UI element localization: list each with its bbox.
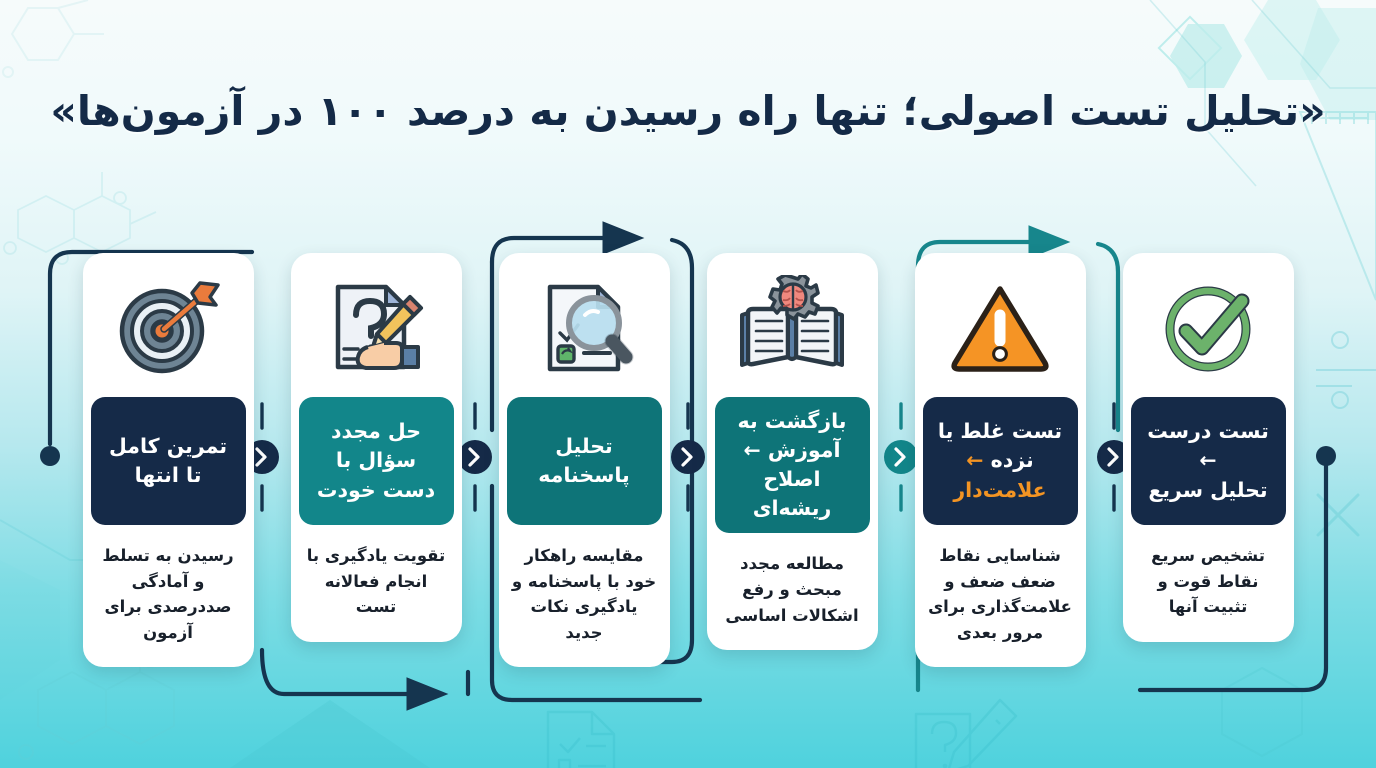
green-check-circle-icon <box>1123 253 1294 397</box>
step-band-line1: تست غلط یا <box>938 419 1062 443</box>
step-description-6: رسیدن به تسلط و آمادگی صددرصدی برای آزمو… <box>83 525 254 667</box>
step-band-line2: آموزش <box>768 438 841 462</box>
step-description-5: تقویت یادگیری با انجام فعالانه تست <box>291 525 462 642</box>
step-band-arrow: ← <box>1199 446 1216 475</box>
step-band-2: تست غلط یا نزده ← علامت‌دار <box>923 397 1078 525</box>
step-card-1[interactable]: تست درست ← تحلیل سریع تشخیص سریع نقاط قو… <box>1123 253 1294 642</box>
step-description-2: شناسایی نقاط ضعف ضعف و علامت‌گذاری برای … <box>915 525 1086 667</box>
step-description-4: مقایسه راهکار خود با پاسخنامه و یادگیری … <box>499 525 670 667</box>
step-description-3: مطالعه مجدد مبحث و رفع اشکالات اساسی <box>707 533 878 650</box>
step-card-5[interactable]: حل مجدد سؤال با دست خودت تقویت یادگیری ب… <box>291 253 462 642</box>
step-card-2[interactable]: تست غلط یا نزده ← علامت‌دار شناسایی نقاط… <box>915 253 1086 667</box>
book-brain-gear-icon <box>707 253 878 397</box>
step-card-6[interactable]: تمرین کامل تا انتها رسیدن به تسلط و آماد… <box>83 253 254 667</box>
step-band-4: تحلیل پاسخنامه <box>507 397 662 525</box>
page-title: «تحلیل تست اصولی؛ تنها راه رسیدن به درصد… <box>50 86 1325 137</box>
step-band-arrow: ← <box>744 436 761 465</box>
step-band-6: تمرین کامل تا انتها <box>91 397 246 525</box>
steps-row: تست درست ← تحلیل سریع تشخیص سریع نقاط قو… <box>0 253 1376 673</box>
step-band-arrow: ← <box>966 446 983 475</box>
step-band-1: تست درست ← تحلیل سریع <box>1131 397 1286 525</box>
step-band-3: بازگشت به آموزش ← اصلاح ریشه‌ای <box>715 397 870 533</box>
step-card-4[interactable]: تحلیل پاسخنامه مقایسه راهکار خود با پاسخ… <box>499 253 670 667</box>
step-band-line2: تحلیل سریع <box>1148 478 1267 502</box>
step-band-line2: نزده <box>991 448 1034 472</box>
step-band-accent: اصلاح ریشه‌ای <box>753 467 832 520</box>
step-band-line2: سؤال با دست خودت <box>317 448 435 501</box>
target-arrow-icon <box>83 253 254 397</box>
infographic-canvas: «تحلیل تست اصولی؛ تنها راه رسیدن به درصد… <box>0 0 1376 768</box>
step-card-3[interactable]: بازگشت به آموزش ← اصلاح ریشه‌ای مطالعه م… <box>707 253 878 650</box>
step-band-line1: تحلیل <box>555 434 613 458</box>
hand-pencil-question-icon <box>291 253 462 397</box>
step-band-line2: تا انتها <box>135 463 202 487</box>
orange-warning-triangle-icon <box>915 253 1086 397</box>
step-band-line1: تست درست <box>1147 419 1269 443</box>
step-band-line1: بازگشت به <box>738 409 847 433</box>
step-band-line1: تمرین کامل <box>109 434 227 458</box>
document-magnifier-icon <box>499 253 670 397</box>
step-band-5: حل مجدد سؤال با دست خودت <box>299 397 454 525</box>
page-title-wrapper: «تحلیل تست اصولی؛ تنها راه رسیدن به درصد… <box>0 86 1376 137</box>
step-description-1: تشخیص سریع نقاط قوت و تثبیت آنها <box>1123 525 1294 642</box>
step-band-accent: علامت‌دار <box>953 478 1046 502</box>
step-band-line1: حل مجدد <box>331 419 421 443</box>
step-band-line2: پاسخنامه <box>538 463 630 487</box>
